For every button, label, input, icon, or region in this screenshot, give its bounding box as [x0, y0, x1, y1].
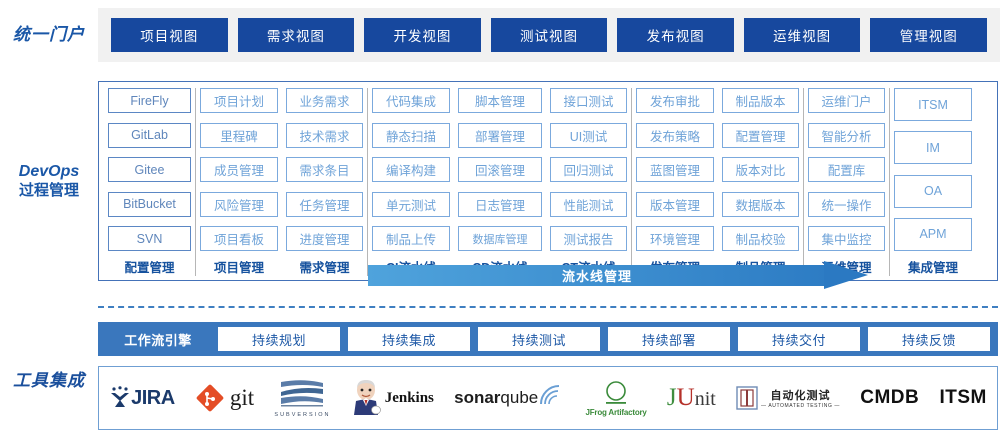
jira-wordmark: JIRA [131, 387, 175, 410]
devops-label-line1: DevOps [0, 163, 98, 181]
portal-button-release-view[interactable]: 发布视图 [617, 18, 734, 52]
itsm-wordmark: ITSM [939, 387, 986, 409]
cell-apm[interactable]: APM [894, 218, 972, 251]
tool-logo-bar: JIRA git SUBVERSION [98, 366, 998, 430]
workflow-item-continuous-delivery[interactable]: 持续交付 [738, 327, 860, 351]
sonarqube-wordmark: sonarqube [454, 388, 538, 408]
workflow-item-continuous-planning[interactable]: 持续规划 [218, 327, 340, 351]
subversion-wordmark: SUBVERSION [274, 412, 330, 418]
cell-configuration-library[interactable]: 配置库 [808, 157, 885, 182]
cell-requirement-item[interactable]: 需求条目 [286, 157, 363, 182]
devops-section-label: DevOps 过程管理 [0, 163, 98, 199]
cell-risk-management[interactable]: 风险管理 [200, 192, 278, 217]
cell-rollback-management[interactable]: 回滚管理 [458, 157, 542, 182]
devops-column-release-management: 发布审批 发布策略 蓝图管理 版本管理 环境管理 发布管理 [632, 88, 718, 276]
cell-business-requirement[interactable]: 业务需求 [286, 88, 363, 113]
portal-section-label: 统一门户 [0, 25, 98, 45]
portal-button-operations-view[interactable]: 运维视图 [744, 18, 861, 52]
automated-testing-text-group: 自动化测试 — AUTOMATED TESTING — [761, 387, 840, 409]
column-cells: 脚本管理 部署管理 回滚管理 日志管理 数据库管理 [458, 88, 542, 251]
cmdb-logo: CMDB [860, 374, 919, 422]
cell-blueprint-management[interactable]: 蓝图管理 [636, 157, 714, 182]
cell-config-management[interactable]: 配置管理 [722, 123, 799, 148]
automated-testing-cn: 自动化测试 [771, 387, 831, 403]
cell-im[interactable]: IM [894, 131, 972, 164]
automated-testing-mark-icon [736, 386, 758, 410]
subversion-mark-icon [279, 378, 325, 412]
tools-section-label: 工具集成 [0, 366, 98, 391]
section-divider-dashed [98, 306, 998, 308]
column-title-configuration-management: 配置管理 [108, 251, 191, 276]
jira-mark-icon [109, 386, 131, 410]
arrow-head-icon [824, 261, 868, 289]
cell-oa[interactable]: OA [894, 175, 972, 208]
column-cells: 运维门户 智能分析 配置库 统一操作 集中监控 [808, 88, 885, 251]
cell-ops-portal[interactable]: 运维门户 [808, 88, 885, 113]
column-cells: 接口测试 UI测试 回归测试 性能测试 测试报告 [550, 88, 627, 251]
jfrog-wordmark: JFrog Artifactory [585, 408, 646, 417]
cell-progress-management[interactable]: 进度管理 [286, 226, 363, 251]
cell-interface-test[interactable]: 接口测试 [550, 88, 627, 113]
git-logo: git [195, 374, 254, 422]
devops-column-ct-pipeline: 接口测试 UI测试 回归测试 性能测试 测试报告 CT流水线 [546, 88, 632, 276]
column-cells: 制品版本 配置管理 版本对比 数据版本 制品校验 [722, 88, 799, 251]
column-cells: 发布审批 发布策略 蓝图管理 版本管理 环境管理 [636, 88, 714, 251]
portal-button-project-view[interactable]: 项目视图 [111, 18, 228, 52]
cell-bitbucket[interactable]: BitBucket [108, 192, 191, 217]
cell-project-board[interactable]: 项目看板 [200, 226, 278, 251]
jfrog-circle-icon [601, 380, 631, 408]
column-title-project-management: 项目管理 [200, 251, 278, 276]
devops-column-artifact-management: 制品版本 配置管理 版本对比 数据版本 制品校验 制品管理 [718, 88, 804, 276]
cell-itsm[interactable]: ITSM [894, 88, 972, 121]
column-cells: 代码集成 静态扫描 编译构建 单元测试 制品上传 [372, 88, 450, 251]
devops-column-ci-pipeline: 代码集成 静态扫描 编译构建 单元测试 制品上传 CI流水线 [368, 88, 454, 276]
devops-column-configuration-management: FireFly GitLab Gitee BitBucket SVN 配置管理 [104, 88, 196, 276]
cell-project-plan[interactable]: 项目计划 [200, 88, 278, 113]
cell-ui-test[interactable]: UI测试 [550, 123, 627, 148]
sonarqube-waves-icon [539, 384, 565, 406]
jenkins-butler-icon [351, 379, 381, 417]
cell-artifact-verification[interactable]: 制品校验 [722, 226, 799, 251]
itsm-logo: ITSM [939, 374, 986, 422]
cell-milestone[interactable]: 里程碑 [200, 123, 278, 148]
automated-testing-en: — AUTOMATED TESTING — [761, 403, 840, 409]
sonarqube-logo: sonarqube [454, 374, 565, 422]
cell-svn[interactable]: SVN [108, 226, 191, 251]
jenkins-wordmark: Jenkins [385, 390, 434, 407]
cell-centralized-monitoring[interactable]: 集中监控 [808, 226, 885, 251]
cell-code-integration[interactable]: 代码集成 [372, 88, 450, 113]
cell-technical-requirement[interactable]: 技术需求 [286, 123, 363, 148]
cell-version-compare[interactable]: 版本对比 [722, 157, 799, 182]
cell-release-strategy[interactable]: 发布策略 [636, 123, 714, 148]
cell-member-management[interactable]: 成员管理 [200, 157, 278, 182]
workflow-item-continuous-integration[interactable]: 持续集成 [348, 327, 470, 351]
workflow-engine-title: 工作流引擎 [102, 330, 214, 349]
cell-firefly[interactable]: FireFly [108, 88, 191, 113]
automated-testing-logo: 自动化测试 — AUTOMATED TESTING — [736, 374, 840, 422]
cell-deployment-management[interactable]: 部署管理 [458, 123, 542, 148]
devops-column-operations-management: 运维门户 智能分析 配置库 统一操作 集中监控 运维管理 [804, 88, 890, 276]
git-wordmark: git [230, 385, 254, 411]
cell-version-management[interactable]: 版本管理 [636, 192, 714, 217]
cell-gitlab[interactable]: GitLab [108, 123, 191, 148]
subversion-logo: SUBVERSION [274, 374, 330, 422]
cell-intelligent-analysis[interactable]: 智能分析 [808, 123, 885, 148]
workflow-item-continuous-deployment[interactable]: 持续部署 [608, 327, 730, 351]
cell-compile-build[interactable]: 编译构建 [372, 157, 450, 182]
cell-test-report[interactable]: 测试报告 [550, 226, 627, 251]
devops-column-integration-management: ITSM IM OA APM 集成管理 [890, 88, 976, 276]
workflow-item-continuous-testing[interactable]: 持续测试 [478, 327, 600, 351]
cell-task-management[interactable]: 任务管理 [286, 192, 363, 217]
cell-static-scan[interactable]: 静态扫描 [372, 123, 450, 148]
devops-column-requirement-management: 业务需求 技术需求 需求条目 任务管理 进度管理 需求管理 [282, 88, 368, 276]
cell-unit-test[interactable]: 单元测试 [372, 192, 450, 217]
portal-button-bar: 项目视图 需求视图 开发视图 测试视图 发布视图 运维视图 管理视图 [98, 8, 1000, 62]
junit-logo: JUnit [667, 374, 716, 422]
cmdb-wordmark: CMDB [860, 387, 919, 409]
column-title-requirement-management: 需求管理 [286, 251, 363, 276]
portal-button-test-view[interactable]: 测试视图 [491, 18, 608, 52]
pipeline-management-arrow: 流水线管理 [368, 265, 868, 286]
cell-script-management[interactable]: 脚本管理 [458, 88, 542, 113]
git-diamond-icon [195, 383, 225, 413]
cell-artifact-upload[interactable]: 制品上传 [372, 226, 450, 251]
column-title-integration-management: 集成管理 [894, 251, 972, 276]
cell-environment-management[interactable]: 环境管理 [636, 226, 714, 251]
junit-letter-u: U [677, 384, 695, 411]
jfrog-artifactory-logo: JFrog Artifactory [585, 374, 646, 422]
portal-button-development-view[interactable]: 开发视图 [364, 18, 481, 52]
cell-artifact-version[interactable]: 制品版本 [722, 88, 799, 113]
cell-log-management[interactable]: 日志管理 [458, 192, 542, 217]
junit-letter-j: J [667, 384, 677, 411]
tools-section: 工具集成 工作流引擎 持续规划 持续集成 持续测试 持续部署 持续交付 持续反馈… [0, 318, 1000, 436]
devops-capability-grid: FireFly GitLab Gitee BitBucket SVN 配置管理 … [98, 81, 998, 281]
workflow-engine-bar: 工作流引擎 持续规划 持续集成 持续测试 持续部署 持续交付 持续反馈 [98, 322, 998, 356]
column-cells: 业务需求 技术需求 需求条目 任务管理 进度管理 [286, 88, 363, 251]
jenkins-logo: Jenkins [351, 374, 434, 422]
devops-column-project-management: 项目计划 里程碑 成员管理 风险管理 项目看板 项目管理 [196, 88, 282, 276]
column-cells: 项目计划 里程碑 成员管理 风险管理 项目看板 [200, 88, 278, 251]
portal-button-requirement-view[interactable]: 需求视图 [238, 18, 355, 52]
cell-performance-test[interactable]: 性能测试 [550, 192, 627, 217]
sonarqube-word-bold: sonar [454, 388, 500, 407]
arrow-label: 流水线管理 [368, 265, 826, 286]
portal-button-management-view[interactable]: 管理视图 [870, 18, 987, 52]
junit-wordmark: JUnit [667, 384, 716, 412]
workflow-item-continuous-feedback[interactable]: 持续反馈 [868, 327, 990, 351]
cell-data-version[interactable]: 数据版本 [722, 192, 799, 217]
cell-database-management[interactable]: 数据库管理 [458, 226, 542, 251]
cell-release-approval[interactable]: 发布审批 [636, 88, 714, 113]
devops-column-cd-pipeline: 脚本管理 部署管理 回滚管理 日志管理 数据库管理 CD流水线 [454, 88, 546, 276]
column-cells: FireFly GitLab Gitee BitBucket SVN [108, 88, 191, 251]
column-cells: ITSM IM OA APM [894, 88, 972, 251]
cell-gitee[interactable]: Gitee [108, 157, 191, 182]
jira-logo: JIRA [109, 374, 175, 422]
sonarqube-word-light: qube [500, 388, 538, 407]
cell-regression-test[interactable]: 回归测试 [550, 157, 627, 182]
junit-letters-rest: nit [695, 388, 716, 410]
cell-unified-operation[interactable]: 统一操作 [808, 192, 885, 217]
devops-label-line2: 过程管理 [0, 182, 98, 199]
portal-section: 统一门户 项目视图 需求视图 开发视图 测试视图 发布视图 运维视图 管理视图 [0, 8, 1000, 62]
